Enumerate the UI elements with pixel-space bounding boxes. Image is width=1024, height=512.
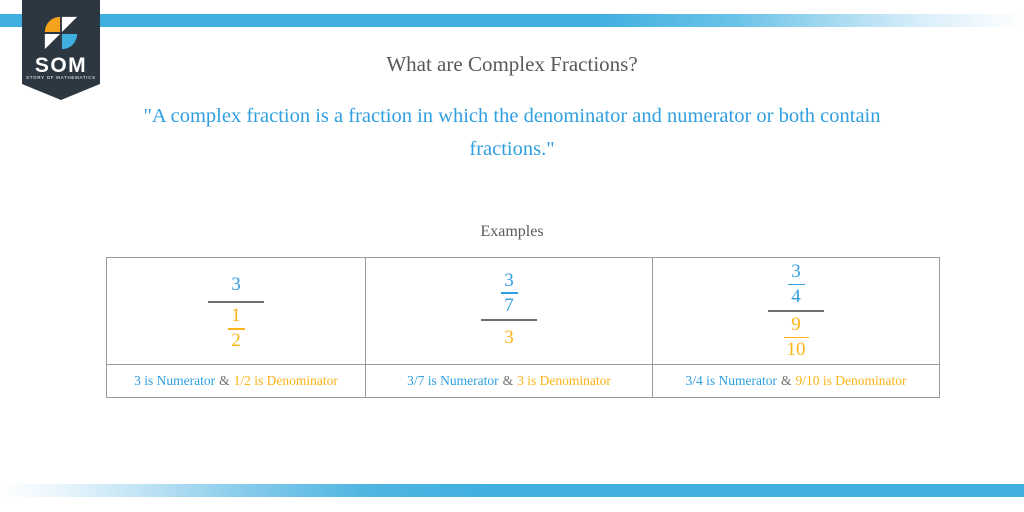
caption-cell-3: 3/4 is Numerator & 9/10 is Denominator [653, 365, 939, 397]
fraction-2-numerator-bottom: 7 [504, 296, 514, 316]
top-accent-stripe [0, 14, 1024, 27]
fraction-2-numerator-bar [501, 292, 518, 294]
complex-fraction-1: 3 1 2 [208, 271, 264, 351]
table-row-fractions: 3 1 2 3 7 3 [107, 258, 939, 365]
examples-label: Examples [0, 223, 1024, 241]
fraction-3-denominator-bottom: 10 [787, 340, 806, 360]
som-logo: SOM STORY OF MATHEMATICS [22, 0, 100, 100]
caption-cell-1: 3 is Numerator & 1/2 is Denominator [107, 365, 366, 397]
caption-cell-2: 3/7 is Numerator & 3 is Denominator [366, 365, 653, 397]
caption-1-denominator: 1/2 is Denominator [234, 373, 338, 389]
logo-s-mark-icon [42, 14, 80, 52]
caption-3-separator: & [777, 373, 796, 389]
caption-2-separator: & [499, 373, 518, 389]
example-cell-3: 3 4 9 10 [653, 258, 939, 365]
caption-1-numerator: 3 is Numerator [134, 373, 215, 389]
examples-table: 3 1 2 3 7 3 [106, 257, 940, 398]
fraction-3-denominator: 9 10 [784, 315, 809, 360]
table-row-captions: 3 is Numerator & 1/2 is Denominator 3/7 … [107, 365, 939, 397]
fraction-2-numerator-top: 3 [504, 271, 514, 291]
fraction-3-numerator: 3 4 [788, 262, 805, 307]
complex-fraction-2: 3 7 3 [481, 271, 537, 351]
example-cell-1: 3 1 2 [107, 258, 366, 365]
fraction-1-numerator: 3 [231, 271, 241, 298]
caption-2-denominator: 3 is Denominator [517, 373, 611, 389]
bottom-accent-stripe [0, 484, 1024, 497]
fraction-1-denominator: 1 2 [228, 306, 245, 351]
caption-1-separator: & [215, 373, 234, 389]
fraction-3-denominator-top: 9 [791, 315, 801, 335]
fraction-3-main-bar [768, 310, 824, 313]
fraction-1-denominator-bottom: 2 [231, 331, 241, 351]
fraction-2-numerator: 3 7 [501, 271, 518, 316]
fraction-2-denominator: 3 [504, 324, 514, 351]
caption-3-denominator: 9/10 is Denominator [796, 373, 907, 389]
caption-3-numerator: 3/4 is Numerator [686, 373, 777, 389]
definition-text: "A complex fraction is a fraction in whi… [112, 100, 912, 166]
caption-2-numerator: 3/7 is Numerator [407, 373, 498, 389]
fraction-1-main-bar [208, 301, 264, 304]
fraction-3-numerator-bottom: 4 [791, 287, 801, 307]
fraction-1-denominator-top: 1 [231, 306, 241, 326]
page-title: What are Complex Fractions? [0, 52, 1024, 77]
fraction-3-numerator-top: 3 [791, 262, 801, 282]
example-cell-2: 3 7 3 [366, 258, 653, 365]
fraction-2-main-bar [481, 319, 537, 322]
complex-fraction-3: 3 4 9 10 [768, 262, 824, 360]
